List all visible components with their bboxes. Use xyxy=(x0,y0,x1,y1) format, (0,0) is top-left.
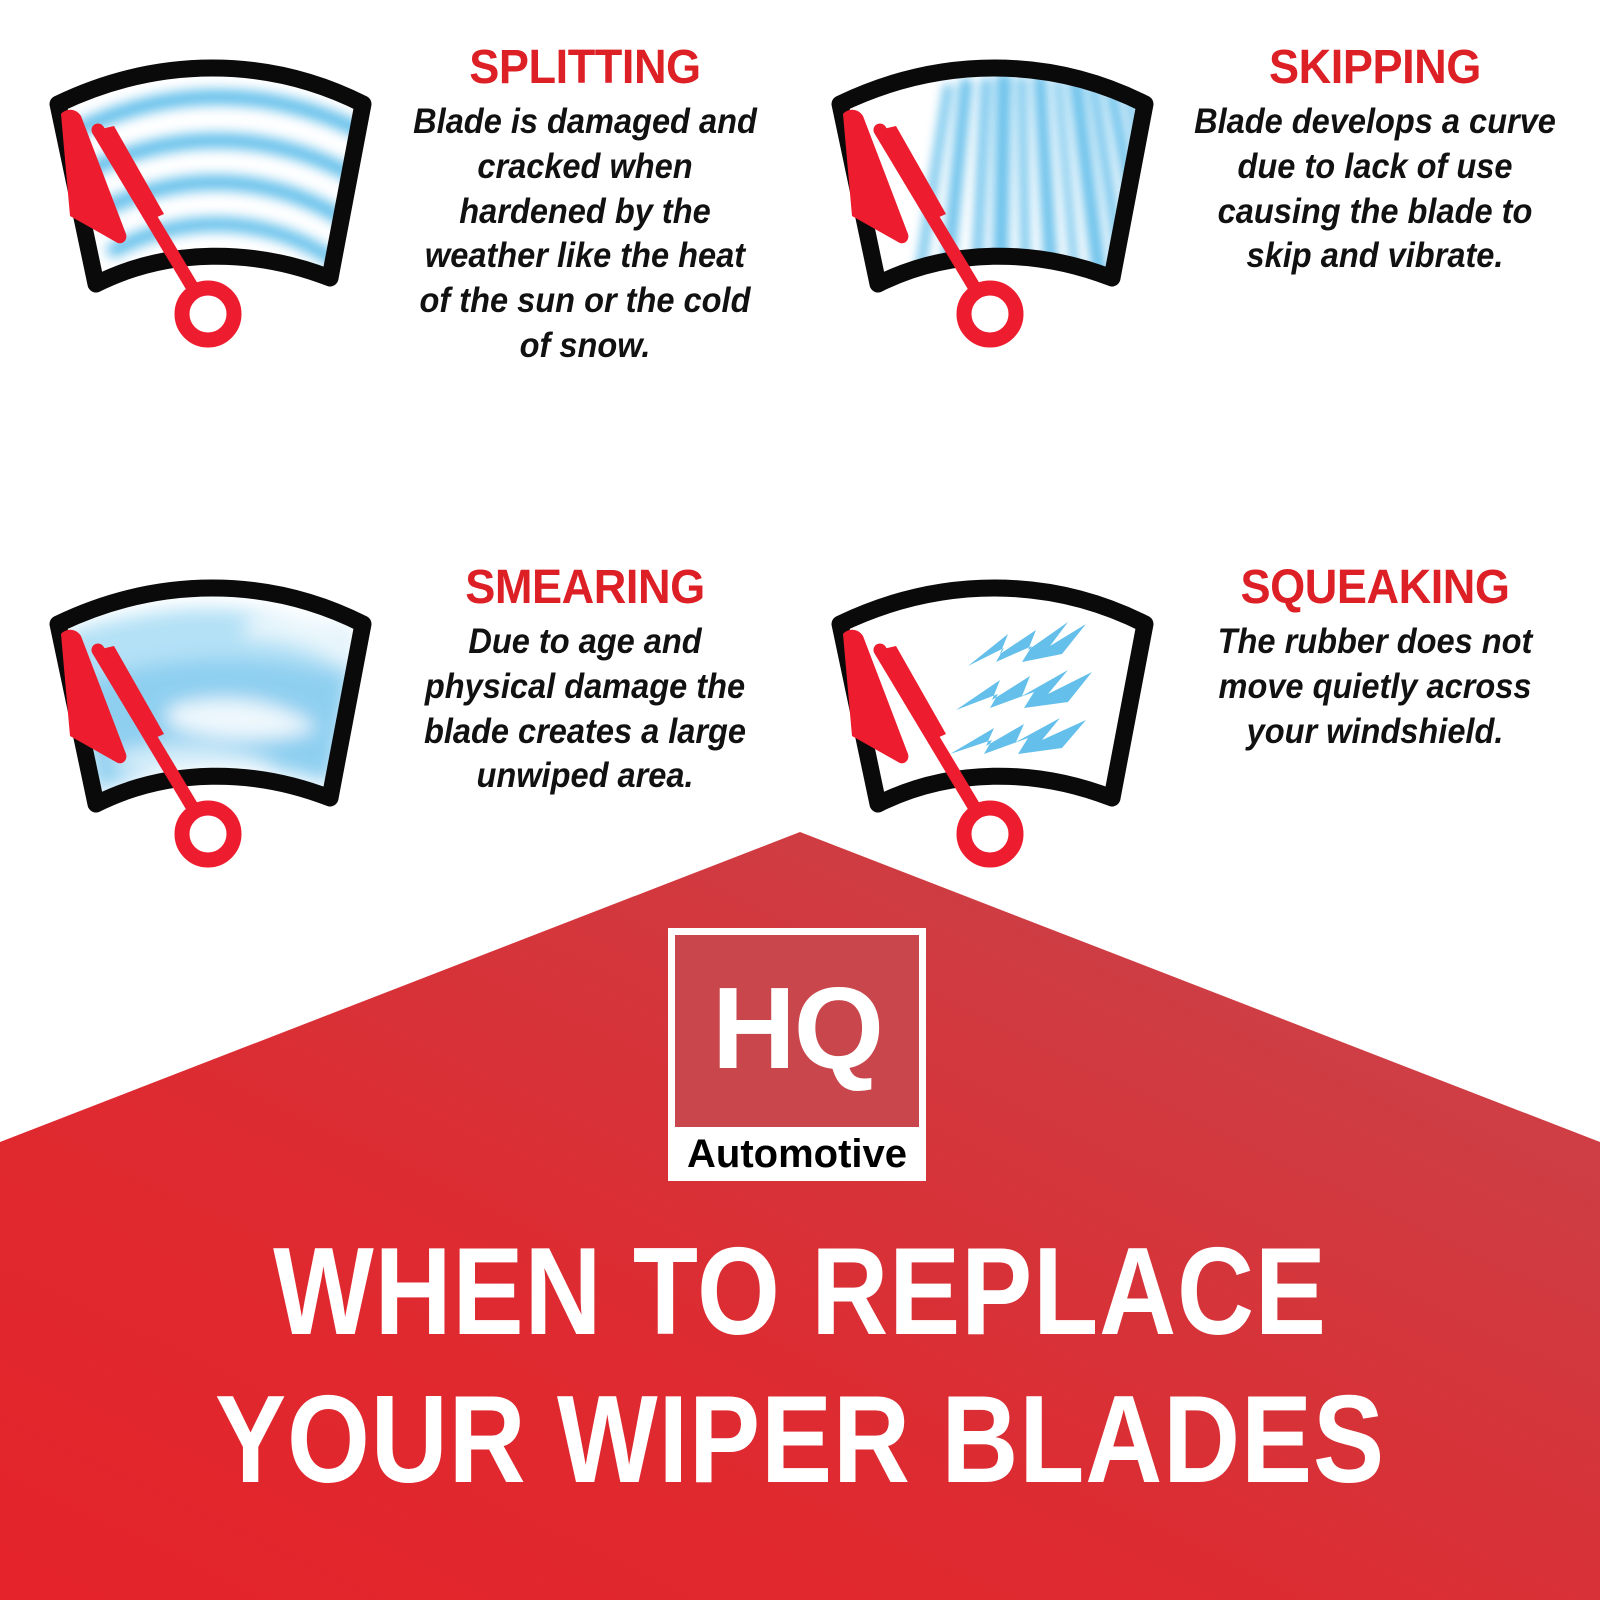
windshield-wiper-skipping-icon xyxy=(800,38,1160,353)
panel-squeaking: SQUEAKING The rubber does not move quiet… xyxy=(800,558,1590,873)
main-headline: WHEN TO REPLACE YOUR WIPER BLADES xyxy=(0,1218,1600,1514)
panel-squeaking-body: The rubber does not move quietly across … xyxy=(1184,620,1565,754)
panel-skipping: SKIPPING Blade develops a curve due to l… xyxy=(800,38,1590,353)
panel-smearing: SMEARING Due to age and physical damage … xyxy=(18,558,778,873)
panel-skipping-body: Blade develops a curve due to lack of us… xyxy=(1184,100,1565,279)
logo-hq-text: HQ xyxy=(712,970,882,1086)
headline-line-2: YOUR WIPER BLADES xyxy=(112,1366,1488,1514)
panel-smearing-title: SMEARING xyxy=(404,564,767,612)
panel-splitting-body: Blade is damaged and cracked when harden… xyxy=(406,100,765,369)
panel-splitting-title: SPLITTING xyxy=(404,44,767,92)
logo-red-field: HQ xyxy=(675,935,919,1127)
hq-automotive-logo: HQ Automotive xyxy=(668,928,926,1181)
windshield-wiper-smearing-icon xyxy=(18,558,378,873)
panel-splitting-copy: SPLITTING Blade is damaged and cracked w… xyxy=(378,38,778,369)
panel-skipping-copy: SKIPPING Blade develops a curve due to l… xyxy=(1160,38,1590,279)
infographic-canvas: SPLITTING Blade is damaged and cracked w… xyxy=(0,0,1600,1600)
panel-smearing-body: Due to age and physical damage the blade… xyxy=(406,620,765,799)
windshield-wiper-splitting-icon xyxy=(18,38,378,353)
panel-smearing-copy: SMEARING Due to age and physical damage … xyxy=(378,558,778,799)
windshield-wiper-squeaking-icon xyxy=(800,558,1160,873)
headline-line-1: WHEN TO REPLACE xyxy=(112,1218,1488,1366)
panel-squeaking-copy: SQUEAKING The rubber does not move quiet… xyxy=(1160,558,1590,754)
panel-splitting: SPLITTING Blade is damaged and cracked w… xyxy=(18,38,778,369)
logo-automotive-text: Automotive xyxy=(675,1127,919,1181)
panel-squeaking-title: SQUEAKING xyxy=(1182,564,1567,612)
panel-skipping-title: SKIPPING xyxy=(1182,44,1567,92)
